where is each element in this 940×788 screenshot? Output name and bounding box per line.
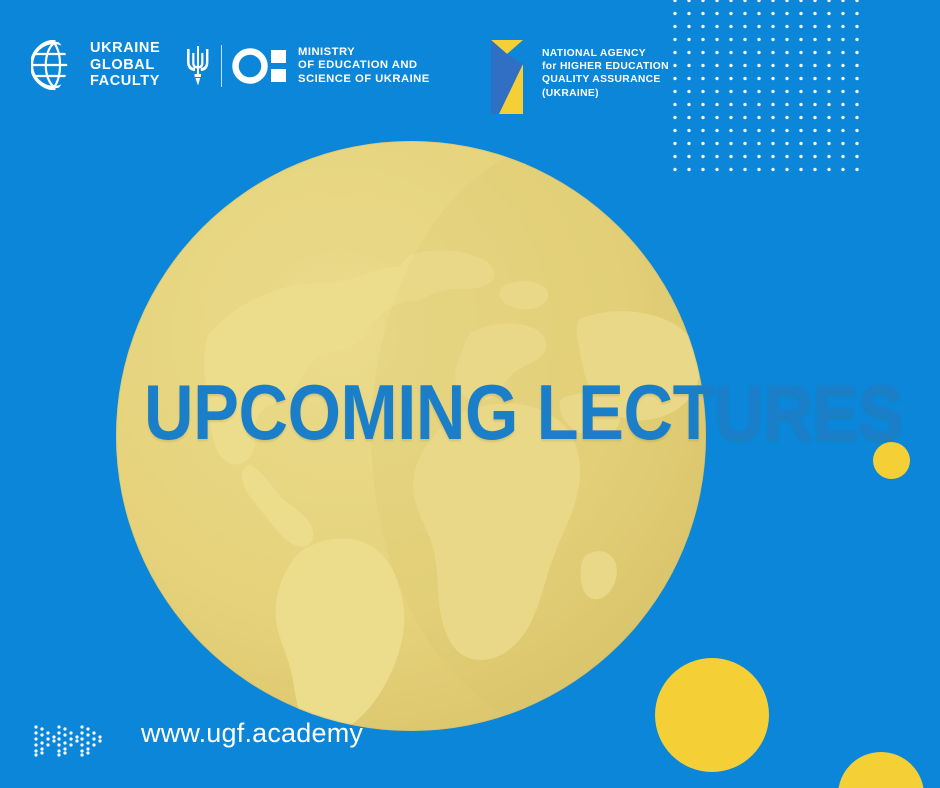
ugf-line-2: GLOBAL bbox=[90, 57, 155, 73]
ministry-line-1: MINISTRY bbox=[298, 46, 355, 58]
triple-chevron-dots-icon bbox=[33, 724, 105, 758]
naqa-line-1: NATIONAL AGENCY bbox=[542, 48, 646, 59]
ukraine-tryzub-icon bbox=[185, 44, 211, 88]
ugf-line-1: UKRAINE bbox=[90, 40, 160, 56]
naqa-logo[interactable]: NATIONAL AGENCY for HIGHER EDUCATION QUA… bbox=[489, 38, 669, 116]
naqa-line-4: (UKRAINE) bbox=[542, 88, 599, 99]
globe-grid-icon bbox=[31, 40, 81, 90]
naqa-flag-icon bbox=[489, 38, 533, 116]
naqa-line-3: QUALITY ASSURANCE bbox=[542, 74, 661, 85]
poster-canvas: UPCOMING LECTURES bbox=[0, 0, 940, 788]
ugf-line-3: FACULTY bbox=[90, 73, 160, 89]
circle-and-squares-icon bbox=[232, 46, 288, 86]
ministry-logo[interactable]: MINISTRY OF EDUCATION AND SCIENCE OF UKR… bbox=[185, 44, 430, 88]
footer-bar: www.ugf.academy bbox=[0, 696, 940, 788]
ugf-logo-text: UKRAINE GLOBAL FACULTY bbox=[90, 40, 160, 90]
logo-bar: UKRAINE GLOBAL FACULTY bbox=[0, 0, 940, 130]
ministry-logo-text: MINISTRY OF EDUCATION AND SCIENCE OF UKR… bbox=[298, 46, 430, 87]
ministry-line-3: SCIENCE OF UKRAINE bbox=[298, 73, 430, 85]
naqa-logo-text: NATIONAL AGENCY for HIGHER EDUCATION QUA… bbox=[542, 38, 669, 100]
ministry-line-2: OF EDUCATION AND bbox=[298, 59, 418, 71]
naqa-line-2: for HIGHER EDUCATION bbox=[542, 61, 669, 72]
logo-divider bbox=[221, 45, 222, 87]
page-title: UPCOMING LECTURES bbox=[144, 372, 725, 452]
website-url[interactable]: www.ugf.academy bbox=[141, 718, 363, 749]
ugf-logo[interactable]: UKRAINE GLOBAL FACULTY bbox=[31, 40, 160, 90]
